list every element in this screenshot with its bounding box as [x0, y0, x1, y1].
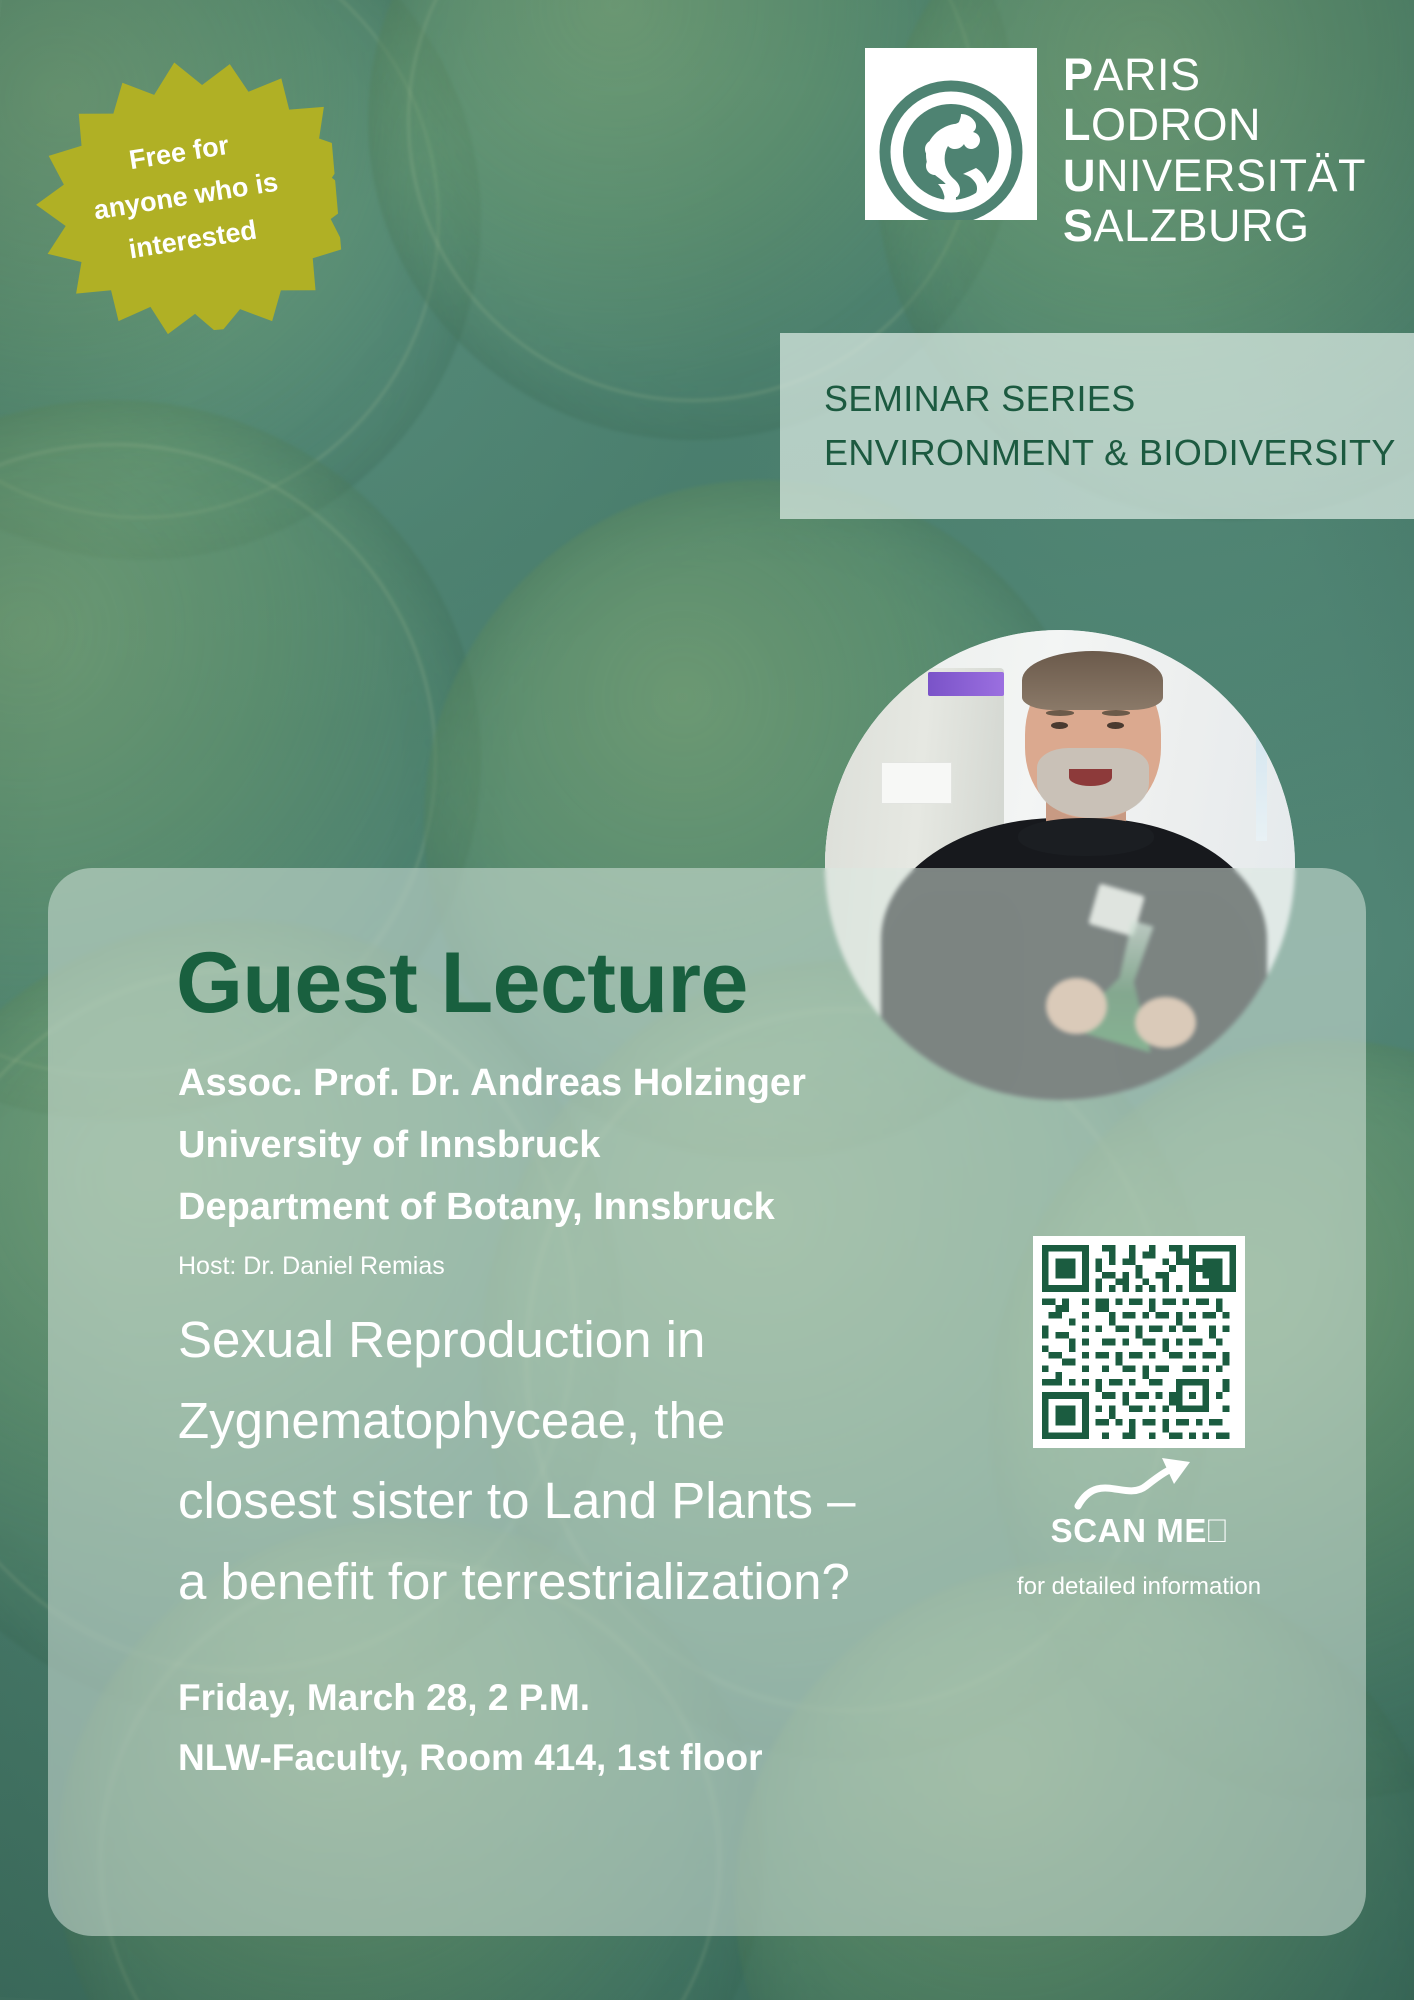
speaker-affiliation: University of Innsbruck	[178, 1115, 806, 1177]
speaker-name: Assoc. Prof. Dr. Andreas Holzinger	[178, 1053, 806, 1115]
speaker-department: Department of Botany, Innsbruck	[178, 1177, 806, 1239]
scan-me-text: SCAN ME	[1051, 1512, 1207, 1549]
page-title: Guest Lecture	[176, 940, 748, 1026]
logo-line-lodron: LODRON	[1063, 100, 1366, 150]
speaker-details: Assoc. Prof. Dr. Andreas Holzinger Unive…	[178, 1053, 806, 1239]
host-line: Host: Dr. Daniel Remias	[178, 1252, 445, 1281]
phone-icon: ⎕	[1207, 1512, 1227, 1549]
plus-lion-crest-icon	[865, 48, 1037, 220]
curved-arrow-icon	[1074, 1456, 1204, 1512]
scan-me-label: SCAN ME⎕	[1004, 1514, 1274, 1547]
university-logo: PARIS LODRON UNIVERSITÄT SALZBURG	[865, 48, 1366, 252]
qr-section: SCAN ME⎕ for detailed information	[1004, 1236, 1274, 1601]
talk-title: Sexual Reproduction in Zygnematophyceae,…	[178, 1300, 978, 1622]
seminar-series-line-1: SEMINAR SERIES	[824, 378, 1414, 420]
poster-root: Free for anyone who is interested PARIS …	[0, 0, 1414, 2000]
talk-title-line-4: a benefit for terrestrialization?	[178, 1542, 978, 1623]
event-location: NLW-Faculty, Room 414, 1st floor	[178, 1728, 762, 1788]
event-datetime-location: Friday, March 28, 2 P.M. NLW-Faculty, Ro…	[178, 1668, 762, 1788]
logo-line-universitaet: UNIVERSITÄT	[1063, 151, 1366, 201]
seminar-series-banner: SEMINAR SERIES ENVIRONMENT & BIODIVERSIT…	[780, 333, 1414, 519]
university-logo-wordmark: PARIS LODRON UNIVERSITÄT SALZBURG	[1063, 48, 1366, 252]
event-datetime: Friday, March 28, 2 P.M.	[178, 1668, 762, 1728]
lecture-info-panel: Guest Lecture Assoc. Prof. Dr. Andreas H…	[48, 868, 1366, 1936]
qr-caption: for detailed information	[1004, 1573, 1274, 1601]
seminar-series-line-2: ENVIRONMENT & BIODIVERSITY	[824, 432, 1414, 474]
talk-title-line-1: Sexual Reproduction in	[178, 1300, 978, 1381]
qr-code[interactable]	[1033, 1236, 1245, 1448]
talk-title-line-2: Zygnematophyceae, the	[178, 1381, 978, 1462]
logo-line-paris: PARIS	[1063, 50, 1366, 100]
logo-line-salzburg: SALZBURG	[1063, 201, 1366, 251]
talk-title-line-3: closest sister to Land Plants –	[178, 1461, 978, 1542]
